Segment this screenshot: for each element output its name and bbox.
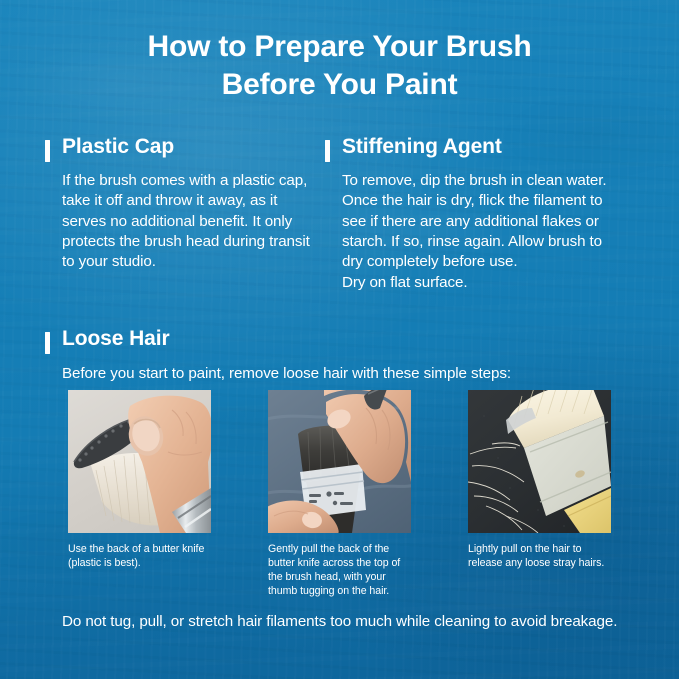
photo-3-illustration xyxy=(468,390,611,533)
photo-pulling-knife-across-brush xyxy=(268,390,411,533)
page-title-line-2: Before You Paint xyxy=(0,66,679,104)
list-item: Gently pull the back of the butter knife… xyxy=(268,390,411,598)
section-stiffening-agent-title: Stiffening Agent xyxy=(342,136,502,157)
page-title-line-1: How to Prepare Your Brush xyxy=(0,28,679,66)
loose-hair-step-gallery: Use the back of a butter knife (plastic … xyxy=(68,390,613,598)
section-plastic-cap-header: Plastic Cap xyxy=(45,136,320,162)
list-item: Lightly pull on the hair to release any … xyxy=(468,390,611,598)
photo-loose-stray-hairs-on-surface xyxy=(468,390,611,533)
list-item: Use the back of a butter knife (plastic … xyxy=(68,390,211,598)
section-loose-hair-title: Loose Hair xyxy=(62,328,170,349)
section-stiffening-agent-body: To remove, dip the brush in clean water.… xyxy=(325,171,625,293)
page-title: How to Prepare Your Brush Before You Pai… xyxy=(0,28,679,104)
step-caption: Lightly pull on the hair to release any … xyxy=(468,542,611,570)
section-loose-hair-header: Loose Hair xyxy=(45,328,635,354)
section-stiffening-agent-body-text-2: Dry on flat surface. xyxy=(342,273,625,293)
section-loose-hair-lead: Before you start to paint, remove loose … xyxy=(45,364,635,384)
bar-marker-icon xyxy=(45,140,50,162)
section-loose-hair: Loose Hair Before you start to paint, re… xyxy=(45,328,635,384)
footnote-warning: Do not tug, pull, or stretch hair filame… xyxy=(62,612,632,632)
photo-2-illustration xyxy=(268,390,411,533)
section-plastic-cap-title: Plastic Cap xyxy=(62,136,174,157)
photo-1-illustration xyxy=(68,390,211,533)
section-stiffening-agent-header: Stiffening Agent xyxy=(325,136,625,162)
section-stiffening-agent: Stiffening Agent To remove, dip the brus… xyxy=(325,136,625,293)
infographic-poster: How to Prepare Your Brush Before You Pai… xyxy=(0,0,679,679)
bar-marker-icon xyxy=(325,140,330,162)
section-plastic-cap: Plastic Cap If the brush comes with a pl… xyxy=(45,136,320,273)
section-plastic-cap-body: If the brush comes with a plastic cap, t… xyxy=(45,171,320,273)
photo-knife-against-brush-head xyxy=(68,390,211,533)
section-stiffening-agent-body-text: To remove, dip the brush in clean water.… xyxy=(342,171,625,273)
section-plastic-cap-body-text: If the brush comes with a plastic cap, t… xyxy=(62,171,320,273)
bar-marker-icon xyxy=(45,332,50,354)
step-caption: Use the back of a butter knife (plastic … xyxy=(68,542,211,570)
step-caption: Gently pull the back of the butter knife… xyxy=(268,542,411,598)
